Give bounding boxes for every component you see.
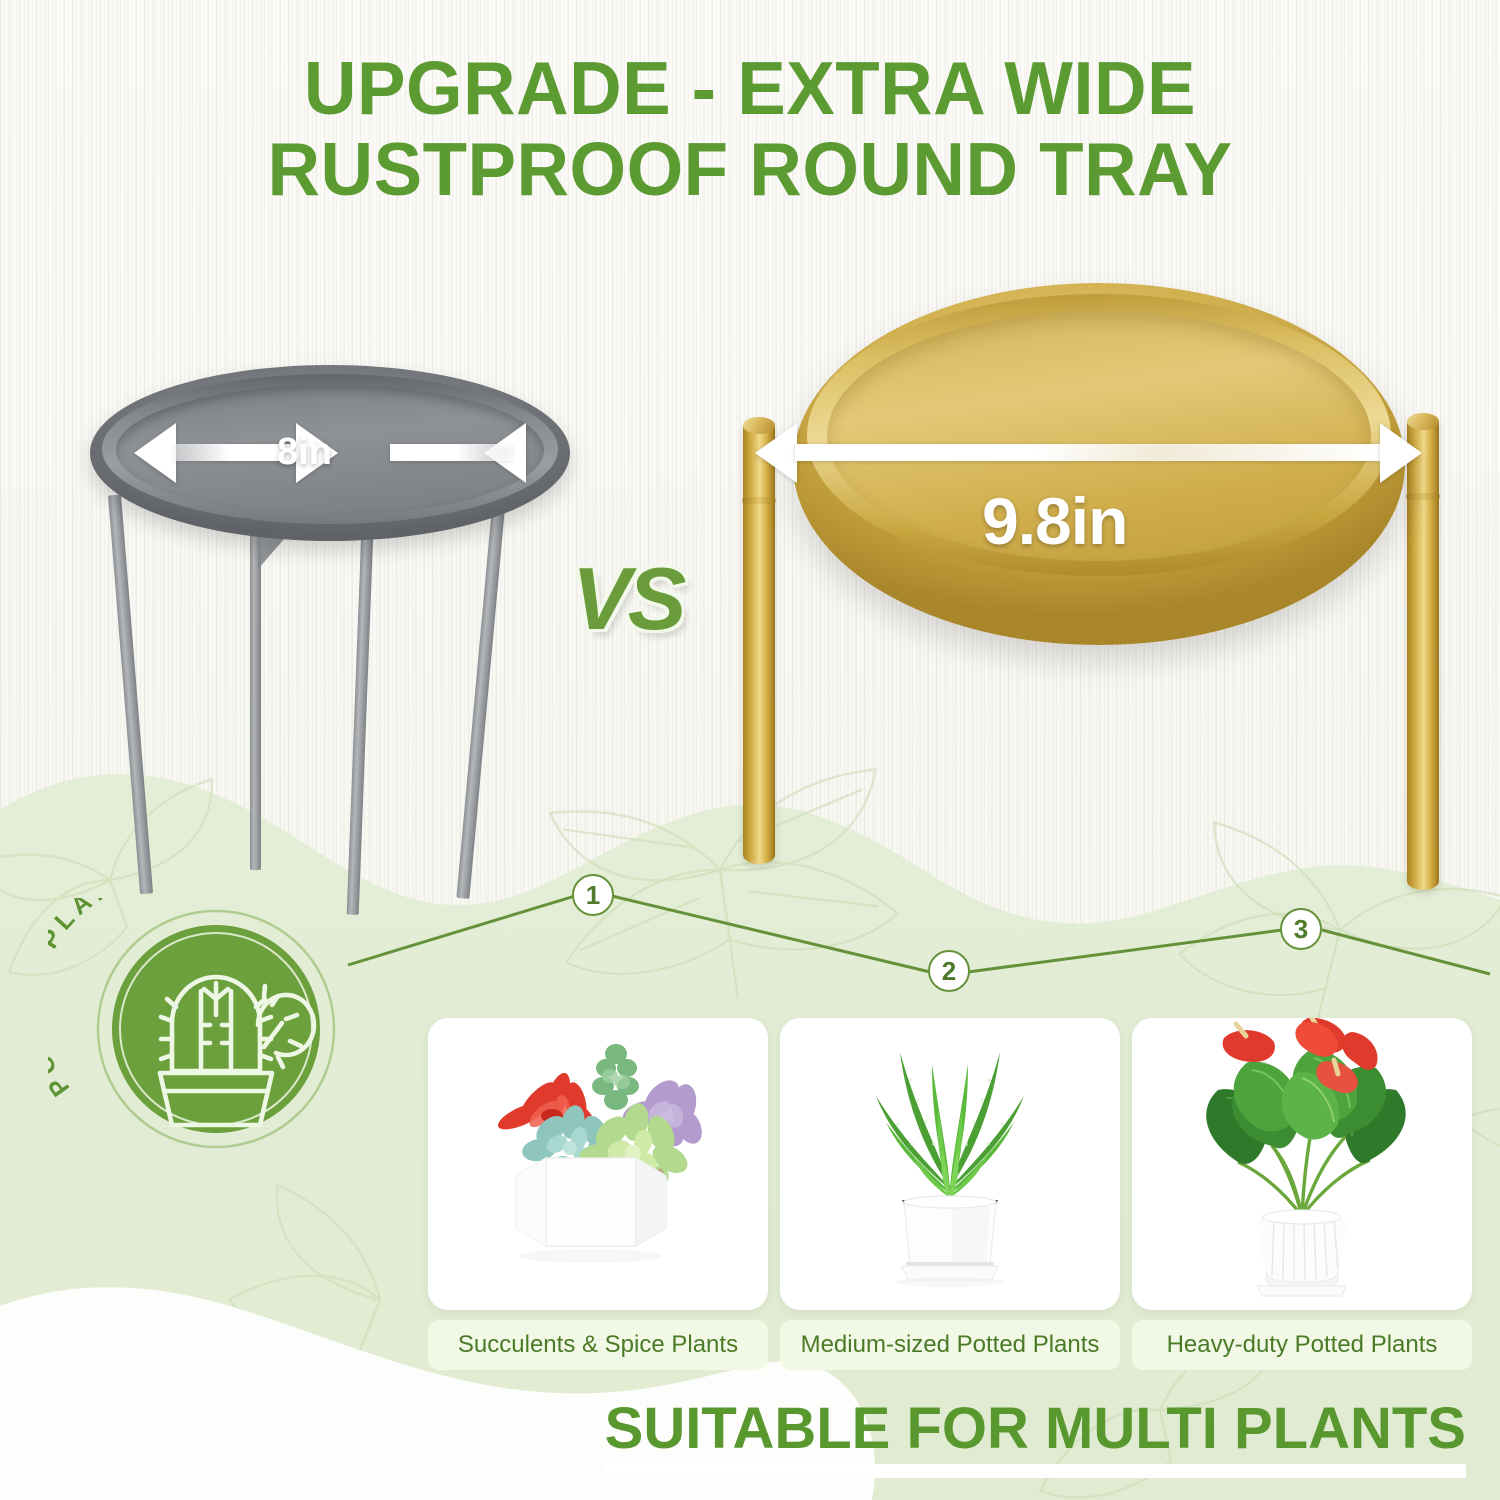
- gray-plant-stand: 8in: [90, 365, 570, 885]
- footer-banner-text: SUITABLE FOR MULTI PLANTS: [605, 1399, 1466, 1460]
- page-title: UPGRADE - EXTRA WIDE RUSTPROOF ROUND TRA…: [0, 48, 1500, 210]
- plant-label-pill: Medium-sized Potted Plants: [780, 1320, 1120, 1370]
- plant-label-pill: Succulents & Spice Plants: [428, 1320, 768, 1370]
- gray-dimension-label: 8in: [277, 431, 332, 474]
- footer-banner: SUITABLE FOR MULTI PLANTS: [605, 1399, 1466, 1478]
- gold-tray-dimension: 9.8in: [735, 275, 1455, 675]
- arrow-shaft: [390, 444, 512, 461]
- infographic-canvas: UPGRADE - EXTRA WIDE RUSTPROOF ROUND TRA…: [0, 0, 1500, 1500]
- connector-node-3: 3: [1280, 908, 1322, 950]
- potted-plant-badge: POTTED PLANT: [48, 898, 348, 1160]
- gold-plant-stand: 9.8in: [735, 275, 1455, 885]
- gold-dimension-label: 9.8in: [982, 483, 1127, 559]
- headline-line-2: RUSTPROOF ROUND TRAY: [23, 129, 1478, 210]
- plant-card[interactable]: [1132, 1018, 1472, 1310]
- headline-line-1: UPGRADE - EXTRA WIDE: [23, 48, 1478, 129]
- plant-card[interactable]: [780, 1018, 1120, 1310]
- arrow-left-icon: [134, 423, 176, 483]
- connector-node-2: 2: [928, 950, 970, 992]
- footer-banner-underline: [605, 1464, 1466, 1478]
- white-ribbed-pot: [1257, 1210, 1347, 1296]
- arrow-left-icon: [755, 423, 797, 483]
- plant-type-labels: Succulents & Spice Plants Medium-sized P…: [428, 1320, 1472, 1370]
- connector-node-1: 1: [572, 874, 614, 916]
- gray-stand-leg: [347, 515, 374, 915]
- succulents-photo: [428, 1018, 768, 1310]
- versus-badge: VS: [572, 548, 683, 650]
- white-round-pot: [902, 1196, 998, 1280]
- badge-svg: POTTED PLANT: [48, 898, 348, 1160]
- plant-card[interactable]: [428, 1018, 768, 1310]
- white-hex-pot: [516, 1158, 666, 1246]
- gray-tray-dimension: 8in: [90, 365, 570, 541]
- gray-stand-leg: [108, 494, 153, 894]
- arrow-right-icon: [1380, 423, 1422, 483]
- plant-type-cards: [428, 1018, 1472, 1316]
- plant-label-pill: Heavy-duty Potted Plants: [1132, 1320, 1472, 1370]
- anthurium-plant-photo: [1132, 1018, 1472, 1310]
- gray-stand-leg: [250, 525, 261, 870]
- aloe-plant-photo: [780, 1018, 1120, 1310]
- arrow-shaft: [795, 444, 1380, 461]
- badge-disc: [112, 925, 320, 1133]
- gray-stand-leg: [456, 484, 507, 898]
